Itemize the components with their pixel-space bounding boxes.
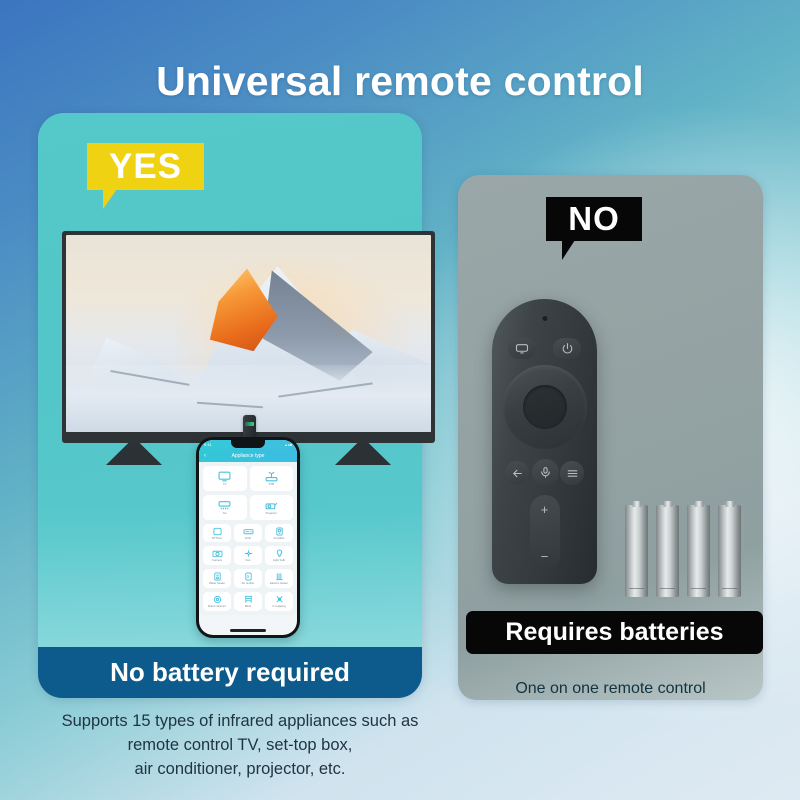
appliance-tile-label: Projector	[266, 512, 277, 515]
appliance-tile-label: Fan	[246, 559, 251, 562]
appliance-tile-amplifier[interactable]: Amplifier	[265, 524, 293, 543]
appliance-tile-label: STB	[269, 483, 274, 486]
phone-notch	[231, 440, 265, 448]
projector-icon	[265, 500, 278, 511]
electric-heater-icon	[274, 572, 285, 581]
appliance-tile-robot-vacuum[interactable]: Robot vacuum	[203, 592, 231, 611]
phone-status-bar: 9:41 ▲●■	[199, 440, 297, 449]
phone-screen-title: Appliance type	[199, 453, 297, 459]
chevron-left-icon[interactable]: ‹	[204, 453, 206, 459]
dvd-player-icon	[243, 527, 254, 536]
appliance-tile-label: Camera	[212, 559, 222, 562]
dtt-box-icon	[212, 527, 223, 536]
appliance-tile-water-heater[interactable]: Water heater	[203, 569, 231, 588]
status-icons: ▲●■	[284, 443, 292, 447]
power-icon	[561, 342, 574, 355]
appliance-tile-camera[interactable]: Camera	[203, 546, 231, 565]
volume-rocker[interactable]: + −	[530, 495, 560, 571]
no-badge: NO	[546, 197, 642, 241]
appliance-grid-row-6: Robot vacuum Blind X-mapping	[199, 592, 297, 615]
left-banner-label: No battery required	[110, 657, 350, 688]
status-time: 9:41	[204, 442, 212, 447]
voice-button[interactable]	[532, 459, 559, 486]
appliance-grid-row-2: AC Projector	[199, 495, 297, 524]
volume-down-label[interactable]: −	[541, 549, 549, 564]
appliance-tile-air-purifier[interactable]: Air purifier	[234, 569, 262, 588]
appliance-tile-label: Robot vacuum	[208, 605, 226, 608]
appliance-tile-label: Water heater	[209, 582, 225, 585]
back-button[interactable]	[505, 461, 529, 485]
aa-battery-group	[625, 505, 760, 597]
appliance-tile-dvd[interactable]: DVD	[234, 524, 262, 543]
appliance-tile-stb[interactable]: STB	[250, 466, 294, 491]
tv-icon	[515, 343, 529, 354]
appliance-tile-ac[interactable]: AC	[203, 495, 247, 520]
power-button[interactable]	[553, 338, 581, 359]
aa-battery	[718, 505, 741, 597]
appliance-grid-row-1: TV STB	[199, 462, 297, 495]
feature-caption: Supports 15 types of infrared appliances…	[20, 710, 460, 782]
appliance-grid-row-4: Camera Fan Light bulb	[199, 546, 297, 569]
appliance-tile-label: AC	[223, 512, 227, 515]
tv-bezel	[62, 231, 435, 443]
smartphone[interactable]: 9:41 ▲●■ ‹ Appliance type TV STB	[196, 437, 300, 638]
appliance-tile-label: DTTbox	[212, 537, 222, 540]
appliance-grid-row-3: DTTbox DVD Amplifier	[199, 524, 297, 547]
appliance-tile-projector[interactable]: Projector	[250, 495, 294, 520]
bubble-tail	[103, 189, 117, 209]
microphone-icon	[539, 466, 552, 479]
phone-screen[interactable]: 9:41 ▲●■ ‹ Appliance type TV STB	[199, 440, 297, 635]
ir-led-icon	[542, 316, 547, 321]
air-purifier-icon	[243, 572, 254, 581]
dpad-ring[interactable]	[503, 365, 587, 449]
appliance-tile-light-bulb[interactable]: Light bulb	[265, 546, 293, 565]
phone-home-indicator[interactable]	[230, 629, 266, 632]
robot-vacuum-icon	[212, 595, 223, 604]
aa-battery	[625, 505, 648, 597]
ir-led-icon	[245, 422, 254, 426]
x-mapping-icon	[274, 595, 285, 604]
right-subtitle: One on one remote control	[458, 680, 763, 698]
aa-battery	[656, 505, 679, 597]
appliance-tile-blind[interactable]: Blind	[234, 592, 262, 611]
appliance-tile-label: X-mapping	[272, 605, 286, 608]
appliance-tile-dttbox[interactable]: DTTbox	[203, 524, 231, 543]
caption-line-3: air conditioner, projector, etc.	[20, 758, 460, 782]
appliance-tile-label: TV	[223, 483, 227, 486]
appliance-tile-label: Blind	[245, 605, 251, 608]
left-banner: No battery required	[38, 647, 422, 698]
air-conditioner-icon	[218, 500, 231, 511]
appliance-tile-electric-heater[interactable]: Electric heater	[265, 569, 293, 588]
appliance-tile-label: DVD	[245, 537, 251, 540]
hamburger-menu-icon	[566, 467, 579, 480]
amplifier-icon	[274, 527, 285, 536]
tv-screen	[66, 235, 431, 432]
camera-icon	[212, 549, 223, 558]
no-badge-label: NO	[568, 200, 620, 238]
yes-badge-label: YES	[109, 147, 182, 187]
tv-remote-control[interactable]: + −	[492, 299, 597, 584]
poster-canvas: Universal remote control YES	[0, 0, 800, 800]
tv-input-button[interactable]	[508, 338, 536, 359]
appliance-tile-tv[interactable]: TV	[203, 466, 247, 491]
light-bulb-icon	[274, 549, 285, 558]
right-banner: Requires batteries	[466, 611, 763, 654]
appliance-tile-label: Air purifier	[242, 582, 255, 585]
page-title: Universal remote control	[0, 58, 800, 105]
appliance-tile-label: Electric heater	[270, 582, 288, 585]
yes-badge: YES	[87, 143, 204, 190]
appliance-tile-fan[interactable]: Fan	[234, 546, 262, 565]
water-heater-icon	[212, 572, 223, 581]
window-blind-icon	[243, 595, 254, 604]
aa-battery	[687, 505, 710, 597]
appliance-tile-x-mapping[interactable]: X-mapping	[265, 592, 293, 611]
set-top-box-icon	[265, 471, 278, 482]
fan-icon	[243, 549, 254, 558]
appliance-tile-label: Amplifier	[274, 537, 285, 540]
caption-line-1: Supports 15 types of infrared appliances…	[20, 710, 460, 734]
phone-app-header: ‹ Appliance type	[199, 449, 297, 462]
appliance-grid-row-5: Water heater Air purifier Electric heate…	[199, 569, 297, 592]
appliance-tile-label: Light bulb	[273, 559, 285, 562]
menu-button[interactable]	[560, 461, 584, 485]
back-arrow-icon	[511, 467, 524, 480]
volume-up-label[interactable]: +	[541, 502, 549, 517]
bubble-tail	[562, 240, 575, 260]
tv-icon	[218, 471, 231, 482]
television	[62, 231, 435, 443]
caption-line-2: remote control TV, set-top box,	[20, 734, 460, 758]
right-banner-label: Requires batteries	[505, 618, 723, 647]
